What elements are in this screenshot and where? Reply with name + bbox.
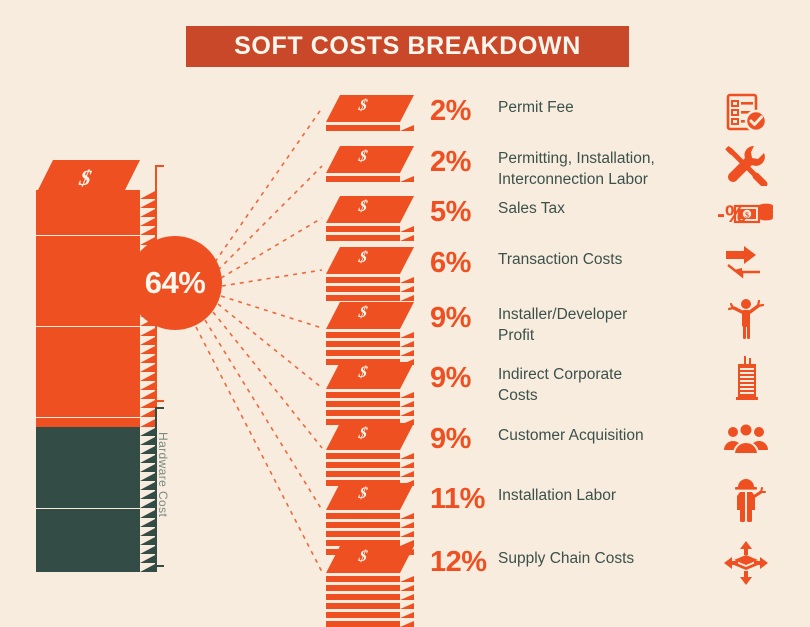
infographic-canvas: SOFT COSTS BREAKDOWN $ Hardw: [0, 0, 810, 626]
soft-cost-percent-badge: 64%: [128, 236, 222, 330]
connector-rays: [0, 0, 810, 626]
soft-cost-percent-value: 64%: [145, 265, 206, 301]
